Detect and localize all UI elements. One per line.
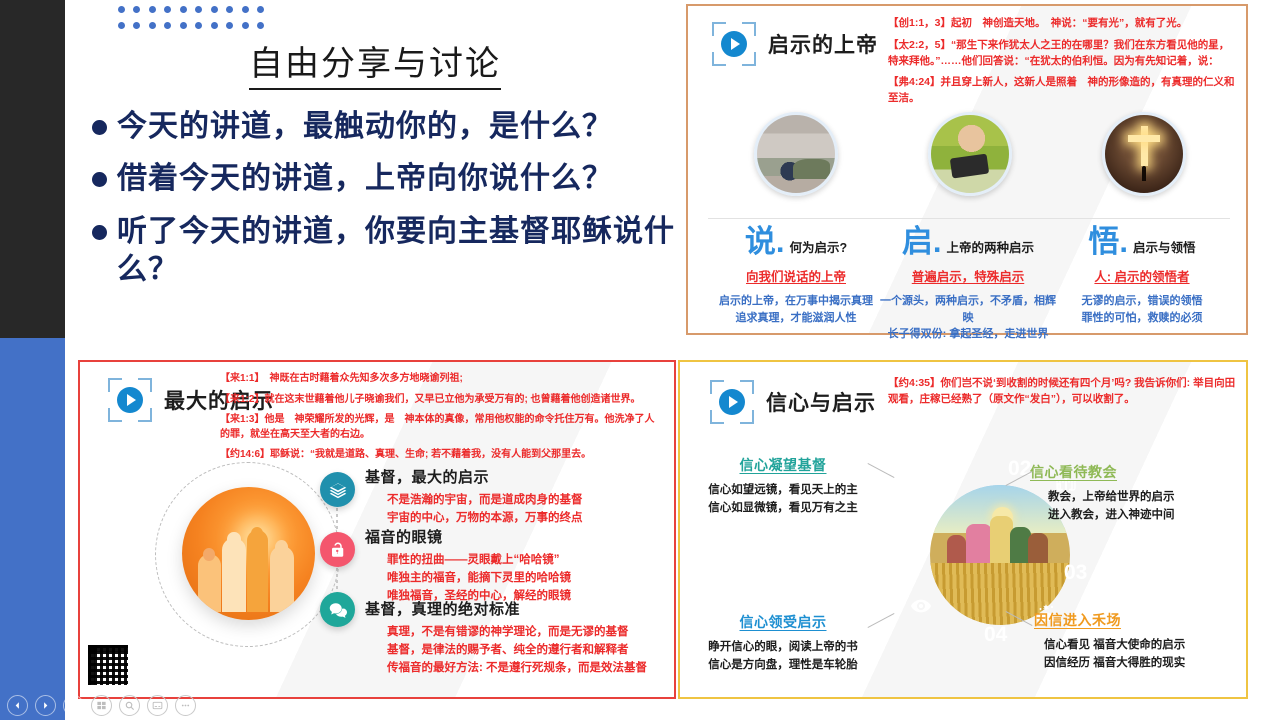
bl-item-1: 基督，最大的启示 不是浩瀚的宇宙，而是道成肉身的基督 宇宙的中心，万物的本源，万… xyxy=(365,466,583,528)
all-slides-button[interactable] xyxy=(91,695,112,716)
caption-title: 信心凝望基督 xyxy=(697,455,869,475)
caption-title: 信心领受启示 xyxy=(694,612,872,632)
segment-red-text: 普遍启示，特殊启示 xyxy=(880,266,1056,285)
caption-line: 睁开信心的眼，阅读上帝的书 xyxy=(694,638,872,656)
segment-blue-line: 追求真理，才能滋润人性 xyxy=(708,310,884,327)
segment-glyph: 说 xyxy=(745,226,785,257)
page-title: 自由分享与讨论 xyxy=(75,36,675,85)
cycle-caption-03: 信心看待教会 教会，上帝给世界的启示 进入教会，进入神迹中间 xyxy=(1030,462,1230,525)
caption-line: 教会，上帝给世界的启示 xyxy=(1048,488,1230,506)
segment-blue-line: 长子得双份: 拿起圣经，走进世界 xyxy=(880,326,1056,343)
caption-line: 信心如显微镜，看见万有之主 xyxy=(697,499,869,517)
segment-red-text: 人: 启示的领悟者 xyxy=(1054,266,1230,285)
people-looking-at-light-image xyxy=(182,487,315,620)
segment-subtitle: 启示与领悟 xyxy=(1133,237,1196,256)
caption-title: 信心看待教会 xyxy=(1030,462,1230,482)
item-line: 唯独主的福音，能摘下灵里的哈哈镜 xyxy=(387,570,571,588)
cycle-number-04: 04 xyxy=(984,623,1007,647)
list-item-text: 借着今天的讲道，上帝向你说什么？ xyxy=(117,160,613,198)
pen-tool-button[interactable] xyxy=(63,695,84,716)
previous-slide-button[interactable] xyxy=(7,695,28,716)
qr-code xyxy=(88,645,128,685)
item-line: 传福音的最好方法: 不是遵行死规条，而是效法基督 xyxy=(387,660,647,678)
panel-header: 信心与启示 xyxy=(710,380,876,424)
panel-title: 信心与启示 xyxy=(766,387,876,417)
segment-blue-line: 无谬的启示，错误的领悟 xyxy=(1054,293,1230,310)
scripture-line: 【来1:2】就在这末世藉着他儿子晓谕我们，又早已立他为承受万有的; 也曾藉着他创… xyxy=(220,393,660,408)
item-line: 不是浩瀚的宇宙，而是道成肉身的基督 xyxy=(387,492,583,510)
segment-blue-line: 罪性的可怕，救赎的必须 xyxy=(1054,310,1230,327)
zoom-button[interactable] xyxy=(119,695,140,716)
glowing-cross-photo xyxy=(1102,112,1186,196)
scripture-block: 【约4:35】你们岂不说‘到收割的时候还有四个月’吗? 我告诉你们: 举目向田观… xyxy=(888,376,1236,414)
bullet-marker-icon xyxy=(92,225,107,240)
item-line: 真理，不是有错谬的神学理论，而是无谬的基督 xyxy=(387,624,647,642)
bl-item-3: 基督，真理的绝对标准 真理，不是有错谬的神学理论，而是无谬的基督 基督，是律法的… xyxy=(365,598,647,677)
more-options-button[interactable] xyxy=(175,695,196,716)
girl-reading-bible-photo xyxy=(928,112,1012,196)
telescope-icon xyxy=(922,473,946,497)
panel-revelation-god: 启示的上帝 【创1:1，3】起初 神创造天地。 神说：“要有光”，就有了光。 【… xyxy=(686,4,1248,335)
connector-dots xyxy=(336,568,338,594)
segment-wu: 悟 启示与领悟 人: 启示的领悟者 无谬的启示，错误的领悟 罪性的可怕，救赎的必… xyxy=(1054,218,1230,326)
cycle-caption-04: 因信进入禾场 信心看见 福音大使命的启示 因信经历 福音大得胜的现实 xyxy=(1034,610,1234,673)
caption-line: 信心是方向盘，理性是车轮胎 xyxy=(694,656,872,674)
homeless-person-photo xyxy=(754,112,838,196)
segment-blue-line: 启示的上帝，在万事中揭示真理 xyxy=(708,293,884,310)
item-line: 基督，是律法的赐予者、纯全的遵行者和解释者 xyxy=(387,642,647,660)
caption-line: 因信经历 福音大得胜的现实 xyxy=(1044,654,1234,672)
left-dark-strip xyxy=(0,0,65,338)
panel-title: 启示的上帝 xyxy=(768,29,878,59)
segment-blue-line: 一个源头，两种启示，不矛盾，相辉映 xyxy=(880,293,1056,326)
segment-glyph: 悟 xyxy=(1088,226,1128,257)
scripture-block: 【创1:1，3】起初 神创造天地。 神说：“要有光”，就有了光。 【太2:2，5… xyxy=(888,16,1236,113)
play-icon xyxy=(712,22,756,66)
play-icon xyxy=(710,380,754,424)
connector-dots xyxy=(336,508,338,534)
segment-shuo: 说 何为启示? 向我们说话的上帝 启示的上帝，在万事中揭示真理 追求真理，才能滋… xyxy=(708,218,884,326)
caption-line: 进入教会，进入神迹中间 xyxy=(1048,506,1230,524)
list-item-text: 听了今天的讲道，你要向主基督耶稣说什么？ xyxy=(117,213,692,290)
item-line: 宇宙的中心，万物的本源，万事的终点 xyxy=(387,510,583,528)
caption-line: 信心如望远镜，看见天上的主 xyxy=(697,481,869,499)
bullet-marker-icon xyxy=(92,172,107,187)
bullet-marker-icon xyxy=(92,120,107,135)
cycle-number-01: 01 xyxy=(902,539,925,563)
list-item: 今天的讲道，最触动你的，是什么？ xyxy=(92,108,692,146)
scripture-line: 【弗4:24】并且穿上新人，这新人是照着 神的形像造的，有真理的仁义和至洁。 xyxy=(888,75,1236,107)
cycle-caption-02: 信心凝望基督 信心如望远镜，看见天上的主 信心如显微镜，看见万有之主 xyxy=(697,455,869,518)
next-slide-button[interactable] xyxy=(35,695,56,716)
segment-qi: 启 上帝的两种启示 普遍启示，特殊启示 一个源头，两种启示，不矛盾，相辉映 长子… xyxy=(880,218,1056,343)
item-heading: 基督，真理的绝对标准 xyxy=(365,598,647,619)
scripture-line: 【创1:1，3】起初 神创造天地。 神说：“要有光”，就有了光。 xyxy=(888,16,1236,32)
left-blue-strip xyxy=(0,338,65,720)
page-title-text: 自由分享与讨论 xyxy=(249,44,501,90)
cycle-number-03: 03 xyxy=(1064,561,1087,585)
slide-canvas: 自由分享与讨论 今天的讲道，最触动你的，是什么？ 借着今天的讲道，上帝向你说什么… xyxy=(0,0,1280,720)
layers-icon xyxy=(320,472,355,507)
panel-header: 启示的上帝 xyxy=(712,22,878,66)
presentation-toolbar xyxy=(0,690,196,720)
bl-item-2: 福音的眼镜 罪性的扭曲——灵眼戴上“哈哈镜” 唯独主的福音，能摘下灵里的哈哈镜 … xyxy=(365,526,571,605)
scripture-line: 【约4:35】你们岂不说‘到收割的时候还有四个月’吗? 我告诉你们: 举目向田观… xyxy=(888,376,1236,408)
play-icon xyxy=(108,378,152,422)
scripture-line: 【来1:1】 神既在古时藉着众先知多次多方地晓谕列祖; xyxy=(220,372,660,387)
eye-icon xyxy=(910,595,932,617)
subtitles-button[interactable] xyxy=(147,695,168,716)
list-item: 借着今天的讲道，上帝向你说什么？ xyxy=(92,160,692,198)
item-line: 罪性的扭曲——灵眼戴上“哈哈镜” xyxy=(387,552,571,570)
scripture-block: 【来1:1】 神既在古时藉着众先知多次多方地晓谕列祖; 【来1:2】就在这末世藉… xyxy=(220,372,660,469)
scripture-line: 【太2:2，5】“那生下来作犹太人之王的在哪里？我们在东方看见他的星，特来拜他。… xyxy=(888,38,1236,70)
item-heading: 福音的眼镜 xyxy=(365,526,571,547)
scripture-line: 【约14:6】耶稣说：“我就是道路、真理、生命; 若不藉着我，没有人能到父那里去… xyxy=(220,448,660,463)
dot-decoration xyxy=(118,6,264,38)
caption-line: 信心看见 福音大使命的启示 xyxy=(1044,636,1234,654)
caption-title: 因信进入禾场 xyxy=(1034,610,1234,630)
segment-subtitle: 上帝的两种启示 xyxy=(947,237,1035,256)
segment-red-text: 向我们说话的上帝 xyxy=(708,266,884,285)
segment-glyph: 启 xyxy=(902,226,942,257)
list-item: 听了今天的讲道，你要向主基督耶稣说什么？ xyxy=(92,213,692,290)
chat-icon xyxy=(320,592,355,627)
scripture-line: 【来1:3】他是 神荣耀所发的光辉，是 神本体的真像，常用他权能的命令托住万有。… xyxy=(220,413,660,442)
item-heading: 基督，最大的启示 xyxy=(365,466,583,487)
list-item-text: 今天的讲道，最触动你的，是什么？ xyxy=(117,108,613,146)
cycle-caption-01: 信心领受启示 睁开信心的眼，阅读上帝的书 信心是方向盘，理性是车轮胎 xyxy=(694,612,872,675)
segment-subtitle: 何为启示? xyxy=(789,237,847,256)
discussion-question-list: 今天的讲道，最触动你的，是什么？ 借着今天的讲道，上帝向你说什么？ 听了今天的讲… xyxy=(92,108,692,304)
lock-icon xyxy=(320,532,355,567)
